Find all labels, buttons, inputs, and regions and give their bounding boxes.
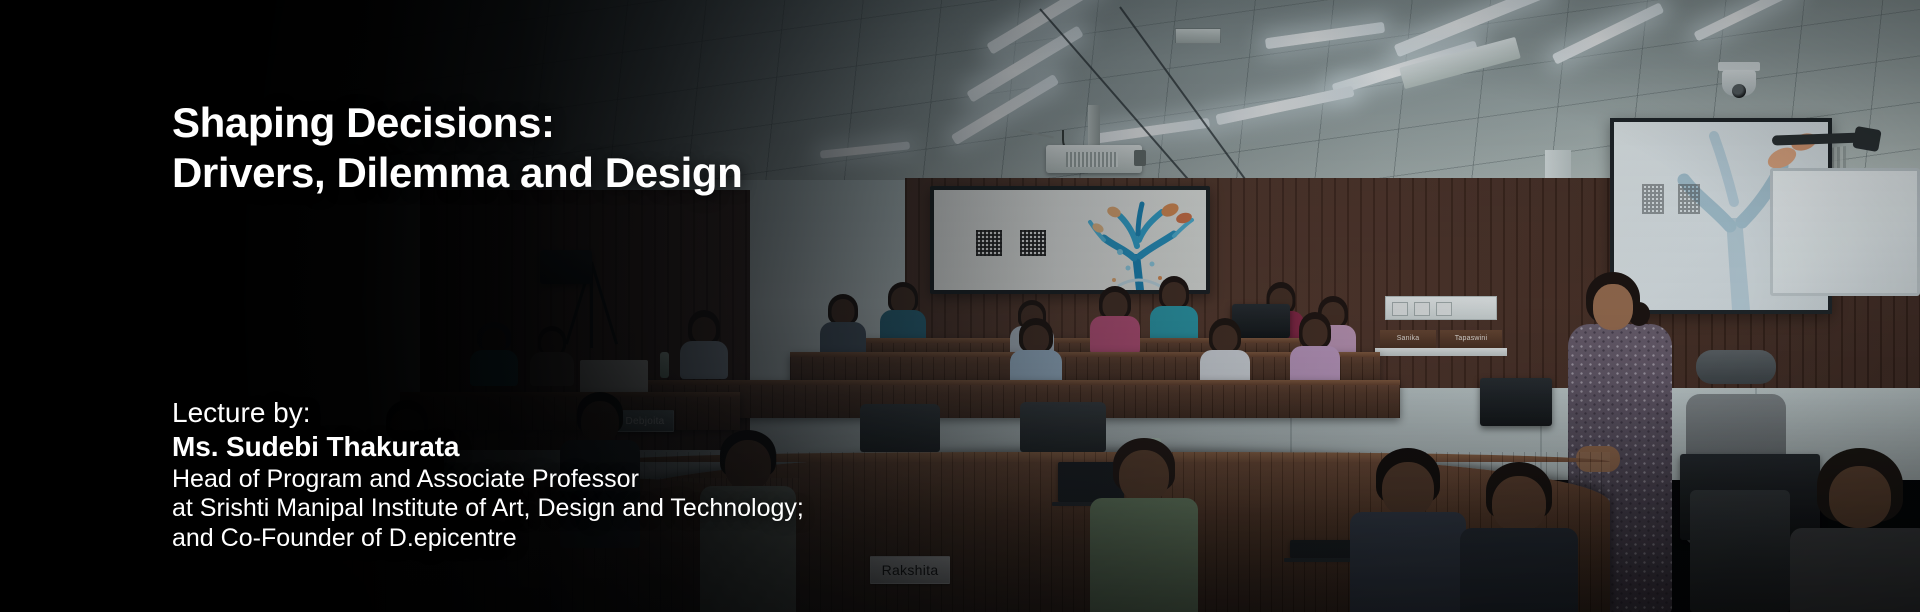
affiliation-line-3: and Co-Founder of D.epicentre — [172, 524, 804, 554]
affiliation-line-1: Head of Program and Associate Professor — [172, 465, 804, 495]
title-line-2: Drivers, Dilemma and Design — [172, 148, 742, 198]
page-title: Shaping Decisions: Drivers, Dilemma and … — [172, 98, 742, 199]
credits-block: Lecture by: Ms. Sudebi Thakurata Head of… — [172, 396, 804, 553]
text-layer: Shaping Decisions: Drivers, Dilemma and … — [0, 0, 1920, 612]
affiliation-line-2: at Srishti Manipal Institute of Art, Des… — [172, 494, 804, 524]
lecture-by-label: Lecture by: — [172, 396, 804, 430]
lecture-banner: Sanika Tapaswini — [0, 0, 1920, 612]
title-line-1: Shaping Decisions: — [172, 98, 742, 148]
speaker-name: Ms. Sudebi Thakurata — [172, 430, 804, 465]
